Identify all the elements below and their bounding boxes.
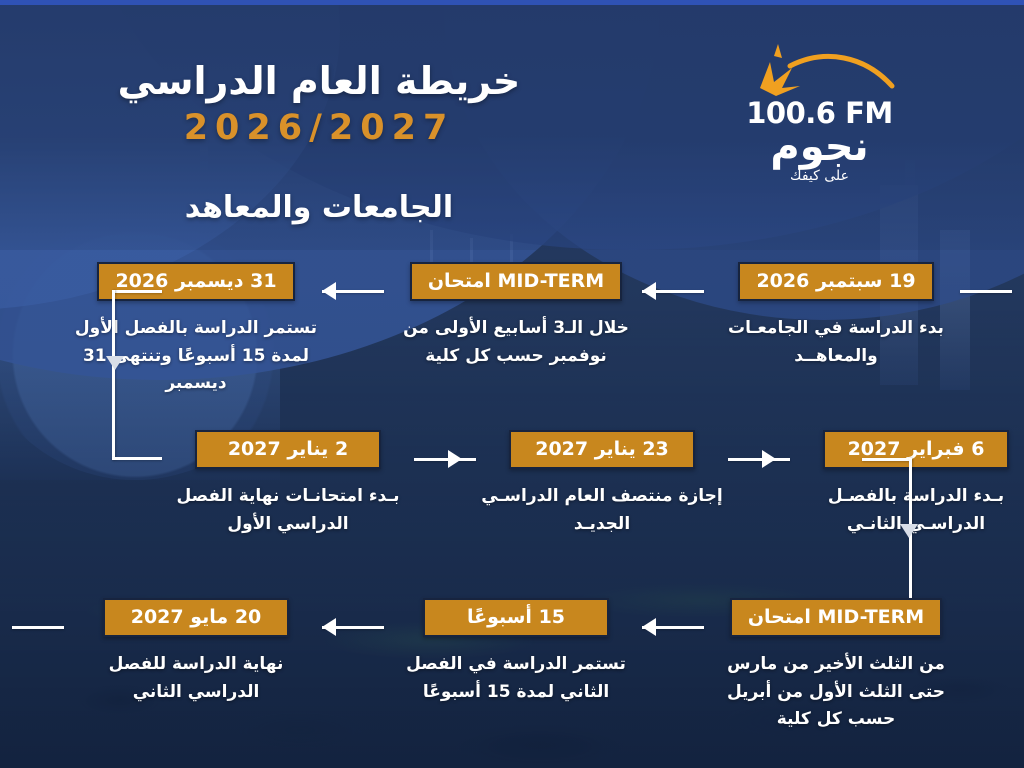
page-subtitle: الجامعات والمعاهد bbox=[119, 190, 519, 225]
title-block: خريطة العام الدراسي 2026/2027 bbox=[104, 62, 534, 148]
academic-years: 2026/2027 bbox=[104, 108, 534, 148]
shooting-star-icon bbox=[722, 42, 917, 98]
infographic-canvas: خريطة العام الدراسي 2026/2027 الجامعات و… bbox=[0, 0, 1024, 768]
card-6-badge[interactable]: 6 فبراير 2027 bbox=[823, 430, 1009, 469]
card-8-badge[interactable]: 15 أسبوعًا bbox=[423, 598, 609, 637]
logo-brand: نجوم bbox=[722, 128, 917, 166]
timeline-card-3[interactable]: 31 ديسمبر 2026 تستمر الدراسة بالفصل الأو… bbox=[70, 262, 322, 398]
card-7-badge[interactable]: امتحان MID-TERM bbox=[730, 598, 942, 637]
header: خريطة العام الدراسي 2026/2027 الجامعات و… bbox=[0, 0, 1024, 250]
connector-wrap-left-bottom bbox=[112, 457, 162, 460]
card-1-description: بدء الدراسة في الجامعـات والمعاهــد bbox=[710, 315, 962, 370]
connector-row2-b bbox=[728, 458, 790, 461]
page-title: خريطة العام الدراسي bbox=[104, 62, 534, 102]
card-7-description: من الثلث الأخير من مارس حتى الثلث الأول … bbox=[710, 651, 962, 734]
arrow-right-row2-b bbox=[762, 450, 776, 468]
connector-row3-end bbox=[12, 626, 64, 629]
card-4-description: بـدء امتحانـات نهاية الفصل الدراسي الأول bbox=[162, 483, 414, 538]
arrow-left-row3-b bbox=[322, 618, 336, 636]
connector-row1-start bbox=[960, 290, 1012, 293]
arrow-left-row3-a bbox=[642, 618, 656, 636]
timeline-card-5[interactable]: 23 يناير 2027 إجازة منتصف العام الدراسـي… bbox=[476, 430, 728, 538]
timeline-card-7[interactable]: امتحان MID-TERM من الثلث الأخير من مارس … bbox=[710, 598, 962, 734]
card-5-description: إجازة منتصف العام الدراسـي الجديـد bbox=[476, 483, 728, 538]
station-logo: 100.6 FM نجوم على كيفك bbox=[722, 42, 917, 212]
arrow-down-right bbox=[900, 524, 918, 538]
arrow-left-row1-b bbox=[322, 282, 336, 300]
timeline-card-2[interactable]: امتحان MID-TERM خلال الـ3 أسابيع الأولى … bbox=[390, 262, 642, 370]
arrow-down-left bbox=[106, 356, 124, 370]
shooting-star-svg bbox=[730, 42, 910, 98]
card-2-description: خلال الـ3 أسابيع الأولى من نوفمبر حسب كل… bbox=[390, 315, 642, 370]
timeline-card-6[interactable]: 6 فبراير 2027 بـدء الدراسة بالفصـل الدرا… bbox=[790, 430, 1024, 538]
timeline: 19 سبتمبر 2026 بدء الدراسة في الجامعـات … bbox=[0, 248, 1024, 768]
card-9-description: نهاية الدراسة للفصل الدراسي الثاني bbox=[70, 651, 322, 706]
card-4-badge[interactable]: 2 يناير 2027 bbox=[195, 430, 381, 469]
card-2-badge[interactable]: امتحان MID-TERM bbox=[410, 262, 622, 301]
timeline-card-9[interactable]: 20 مايو 2027 نهاية الدراسة للفصل الدراسي… bbox=[70, 598, 322, 706]
arrow-left-row1-a bbox=[642, 282, 656, 300]
logo-tagline: على كيفك bbox=[722, 168, 917, 184]
connector-wrap-right-top bbox=[862, 458, 912, 461]
card-3-badge[interactable]: 31 ديسمبر 2026 bbox=[97, 262, 294, 301]
timeline-card-8[interactable]: 15 أسبوعًا تستمر الدراسة في الفصل الثاني… bbox=[390, 598, 642, 706]
card-9-badge[interactable]: 20 مايو 2027 bbox=[103, 598, 289, 637]
timeline-card-4[interactable]: 2 يناير 2027 بـدء امتحانـات نهاية الفصل … bbox=[162, 430, 414, 538]
connector-wrap-left-vertical bbox=[112, 290, 115, 460]
arrow-right-row2-a bbox=[448, 450, 462, 468]
timeline-card-1[interactable]: 19 سبتمبر 2026 بدء الدراسة في الجامعـات … bbox=[710, 262, 962, 370]
connector-row2-a bbox=[414, 458, 476, 461]
card-8-description: تستمر الدراسة في الفصل الثاني لمدة 15 أس… bbox=[390, 651, 642, 706]
card-1-badge[interactable]: 19 سبتمبر 2026 bbox=[738, 262, 933, 301]
card-5-badge[interactable]: 23 يناير 2027 bbox=[509, 430, 695, 469]
connector-wrap-left-top bbox=[112, 290, 162, 293]
